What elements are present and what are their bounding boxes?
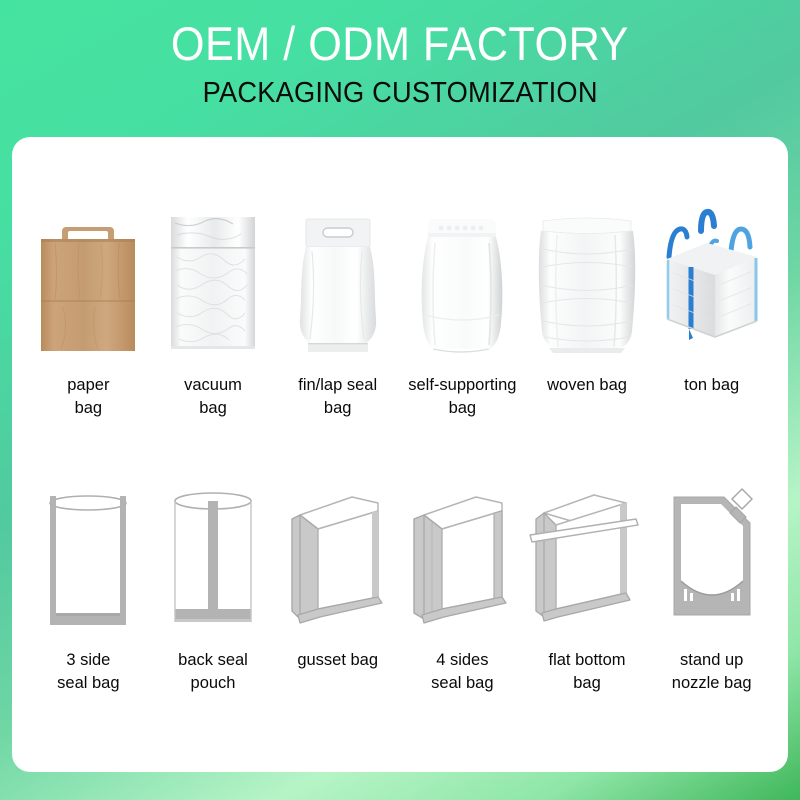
product-cell-ton-bag[interactable]: ton bag — [649, 195, 774, 420]
ton-bag-icon — [649, 195, 774, 357]
product-catalog-card: paper bag — [12, 137, 788, 772]
product-cell-four-sides-seal-bag[interactable]: 4 sides seal bag — [400, 483, 525, 695]
product-label: flat bottom bag — [549, 649, 626, 695]
product-label: gusset bag — [297, 649, 378, 672]
back-seal-pouch-icon — [151, 483, 276, 635]
vacuum-bag-icon — [151, 195, 276, 357]
product-cell-self-supporting-bag[interactable]: self-supporting bag — [400, 195, 525, 420]
product-label: self-supporting bag — [408, 374, 516, 420]
four-sides-seal-bag-icon — [400, 483, 525, 635]
product-label: 4 sides seal bag — [431, 649, 493, 695]
product-label: ton bag — [684, 374, 739, 397]
product-cell-fin-lap-seal-bag[interactable]: fin/lap seal bag — [275, 195, 400, 420]
page-title: OEM / ODM FACTORY — [171, 16, 629, 72]
product-cell-paper-bag[interactable]: paper bag — [26, 195, 151, 420]
product-label: back seal pouch — [178, 649, 248, 695]
paper-bag-icon — [26, 195, 151, 357]
product-label: stand up nozzle bag — [672, 649, 752, 695]
product-cell-gusset-bag[interactable]: gusset bag — [275, 483, 400, 695]
gusset-bag-icon — [275, 483, 400, 635]
product-cell-woven-bag[interactable]: woven bag — [525, 195, 650, 420]
product-label: vacuum bag — [184, 374, 242, 420]
product-cell-flat-bottom-bag[interactable]: flat bottom bag — [525, 483, 650, 695]
woven-bag-icon — [525, 195, 650, 357]
self-supporting-bag-icon — [400, 195, 525, 357]
fin-lap-seal-bag-icon — [275, 195, 400, 357]
product-cell-vacuum-bag[interactable]: vacuum bag — [151, 195, 276, 420]
page-subtitle: PACKAGING CUSTOMIZATION — [202, 76, 597, 110]
product-label: paper bag — [67, 374, 109, 420]
product-label: fin/lap seal bag — [298, 374, 377, 420]
page-header: OEM / ODM FACTORY PACKAGING CUSTOMIZATIO… — [0, 0, 800, 136]
product-row-photo: paper bag — [26, 195, 774, 420]
product-label: 3 side seal bag — [57, 649, 119, 695]
flat-bottom-bag-icon — [525, 483, 650, 635]
product-cell-three-side-seal-bag[interactable]: 3 side seal bag — [26, 483, 151, 695]
product-cell-stand-up-nozzle-bag[interactable]: stand up nozzle bag — [649, 483, 774, 695]
stand-up-nozzle-bag-icon — [649, 483, 774, 635]
product-label: woven bag — [547, 374, 627, 397]
product-cell-back-seal-pouch[interactable]: back seal pouch — [151, 483, 276, 695]
three-side-seal-bag-icon — [26, 483, 151, 635]
product-row-line-drawing: 3 side seal bag back seal pouch — [26, 483, 774, 695]
